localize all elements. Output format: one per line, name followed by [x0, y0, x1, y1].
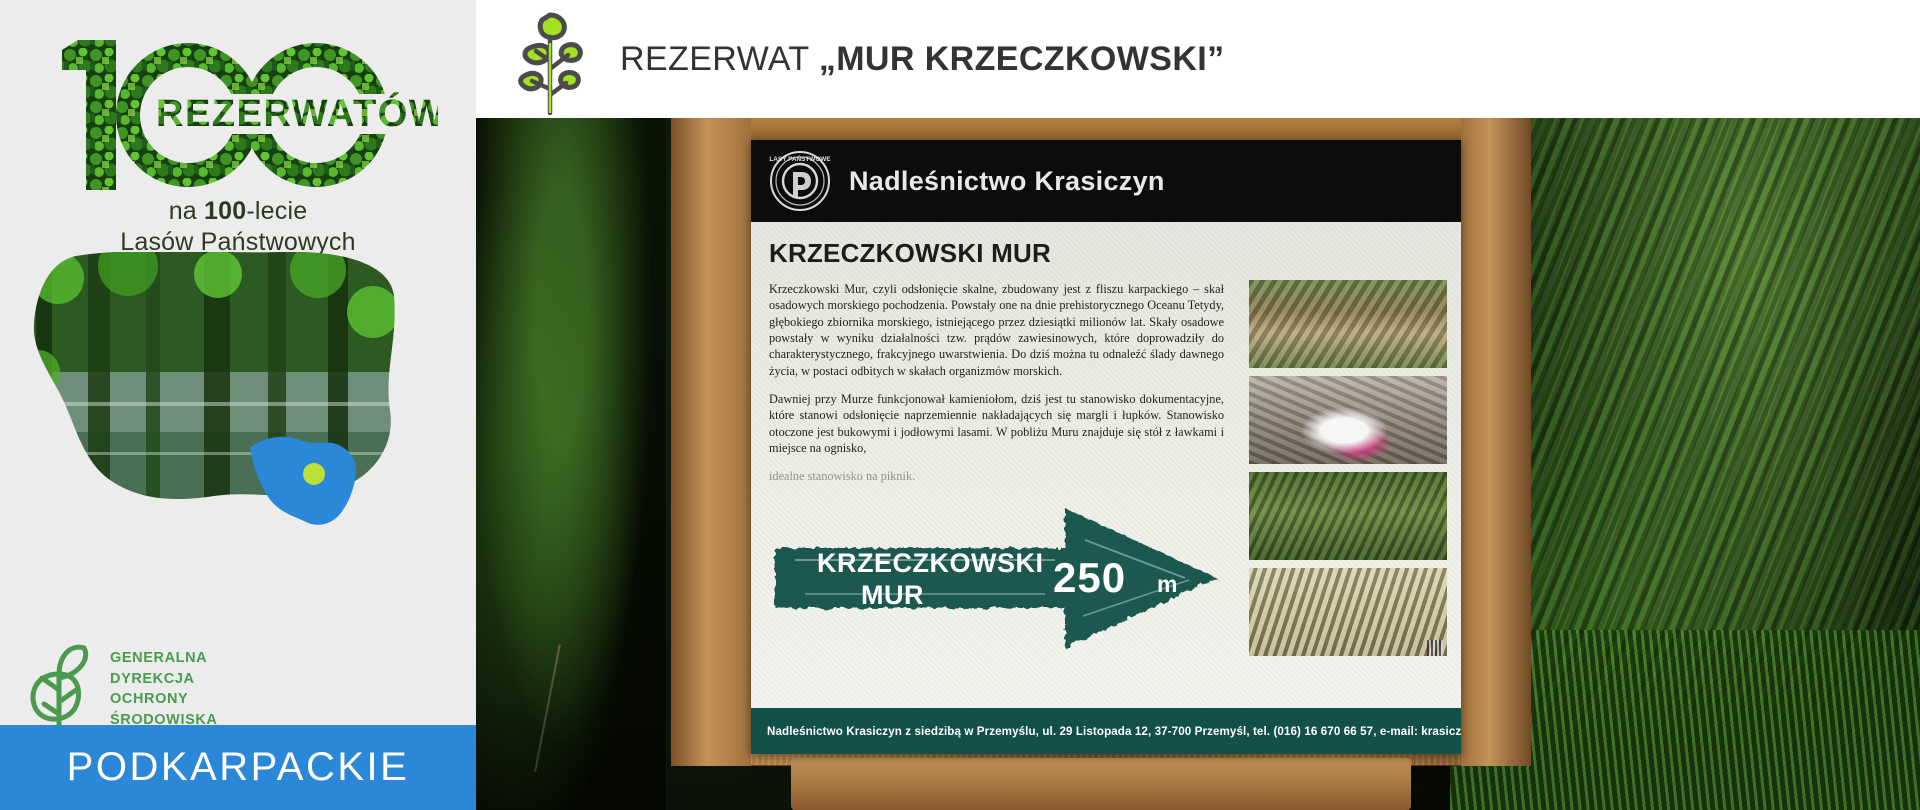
qr-code-icon — [1427, 640, 1443, 656]
arrow-distance-value: 250 — [1053, 554, 1126, 601]
subtitle-prefix: na — [169, 197, 204, 225]
gdos-line-2: DYREKCJA — [110, 669, 218, 690]
region-banner-label: PODKARPACKIE — [67, 745, 410, 790]
page-root: REZERWATÓW na 100-lecie Lasów Państwowyc… — [0, 0, 1920, 810]
subtitle-number: 100 — [204, 197, 246, 225]
anniversary-logo: REZERWATÓW — [0, 22, 476, 222]
fossil-closeup-photo — [1249, 376, 1447, 464]
arrow-shape — [775, 508, 1217, 648]
board-photo-thumbnails — [1249, 280, 1447, 664]
arrow-label-line-1: KRZECZKOWSKI — [817, 548, 1043, 578]
rock-outcrop-photo — [1249, 280, 1447, 368]
page-title-name: „MUR KRZECZKOWSKI” — [819, 40, 1225, 78]
board-panel: LASY PAŃSTWOWE Nadleśnictwo Krasiczyn KR… — [751, 140, 1461, 754]
forest-slope-photo — [1249, 472, 1447, 560]
forest-district-title: Nadleśnictwo Krasiczyn — [849, 166, 1165, 197]
forest-region-graphic — [18, 252, 398, 552]
photo-left-foliage — [476, 118, 666, 810]
gdos-line-3: OCHRONY — [110, 689, 218, 710]
information-board: LASY PAŃSTWOWE Nadleśnictwo Krasiczyn KR… — [671, 118, 1531, 810]
board-panel-header: LASY PAŃSTWOWE Nadleśnictwo Krasiczyn — [751, 140, 1461, 222]
board-paragraph-3: idealne stanowisko na piknik. — [769, 468, 1224, 484]
page-header: REZERWAT „MUR KRZECZKOWSKI” — [476, 0, 1920, 118]
reserve-photo: LASY PAŃSTWOWE Nadleśnictwo Krasiczyn KR… — [476, 118, 1920, 810]
board-legs — [791, 758, 1411, 810]
region-marker-dot — [303, 463, 325, 485]
arrow-label-line-2: MUR — [861, 580, 924, 610]
board-paragraph-1: Krzeczkowski Mur, czyli odsłonięcie skal… — [769, 281, 1224, 379]
page-title-prefix: REZERWAT — [620, 40, 819, 78]
logo-100-graphic: REZERWATÓW — [38, 22, 438, 207]
flysch-layers-photo — [1249, 568, 1447, 656]
left-info-panel: REZERWATÓW na 100-lecie Lasów Państwowyc… — [0, 0, 476, 810]
arrow-distance-unit: m — [1157, 571, 1177, 597]
podkarpackie-region-shape — [250, 437, 356, 525]
sapling-tree-icon — [502, 3, 598, 115]
logo-reserves-word: REZERWATÓW — [156, 91, 438, 135]
gdos-text-block: GENERALNA DYREKCJA OCHRONY ŚRODOWISKA — [110, 648, 218, 730]
gdos-line-1: GENERALNA — [110, 648, 218, 669]
board-panel-body: KRZECZKOWSKI MUR Krzeczkowski Mur, czyli… — [751, 222, 1461, 708]
page-title: REZERWAT „MUR KRZECZKOWSKI” — [620, 40, 1225, 79]
region-banner: PODKARPACKIE — [0, 725, 476, 810]
board-frame-left — [671, 118, 751, 766]
anniversary-subtitle: na 100-lecie Lasów Państwowych — [0, 196, 476, 257]
board-panel-footer: Nadleśnictwo Krasiczyn z siedzibą w Prze… — [751, 708, 1461, 754]
direction-arrow: KRZECZKOWSKI MUR 250 m — [765, 490, 1235, 670]
board-text-column: KRZECZKOWSKI MUR Krzeczkowski Mur, czyli… — [769, 232, 1224, 497]
lasy-panstwowe-logo-icon: LASY PAŃSTWOWE — [769, 150, 831, 212]
board-frame-right — [1461, 118, 1531, 766]
lasy-panstwowe-logo-text: LASY PAŃSTWOWE — [769, 154, 831, 163]
board-paragraph-2: Dawniej przy Murze funkcjonował kamienio… — [769, 391, 1224, 456]
subtitle-suffix: -lecie — [246, 197, 307, 225]
board-footer-contact: Nadleśnictwo Krasiczyn z siedzibą w Prze… — [767, 725, 1461, 738]
board-heading: KRZECZKOWSKI MUR — [769, 238, 1224, 269]
